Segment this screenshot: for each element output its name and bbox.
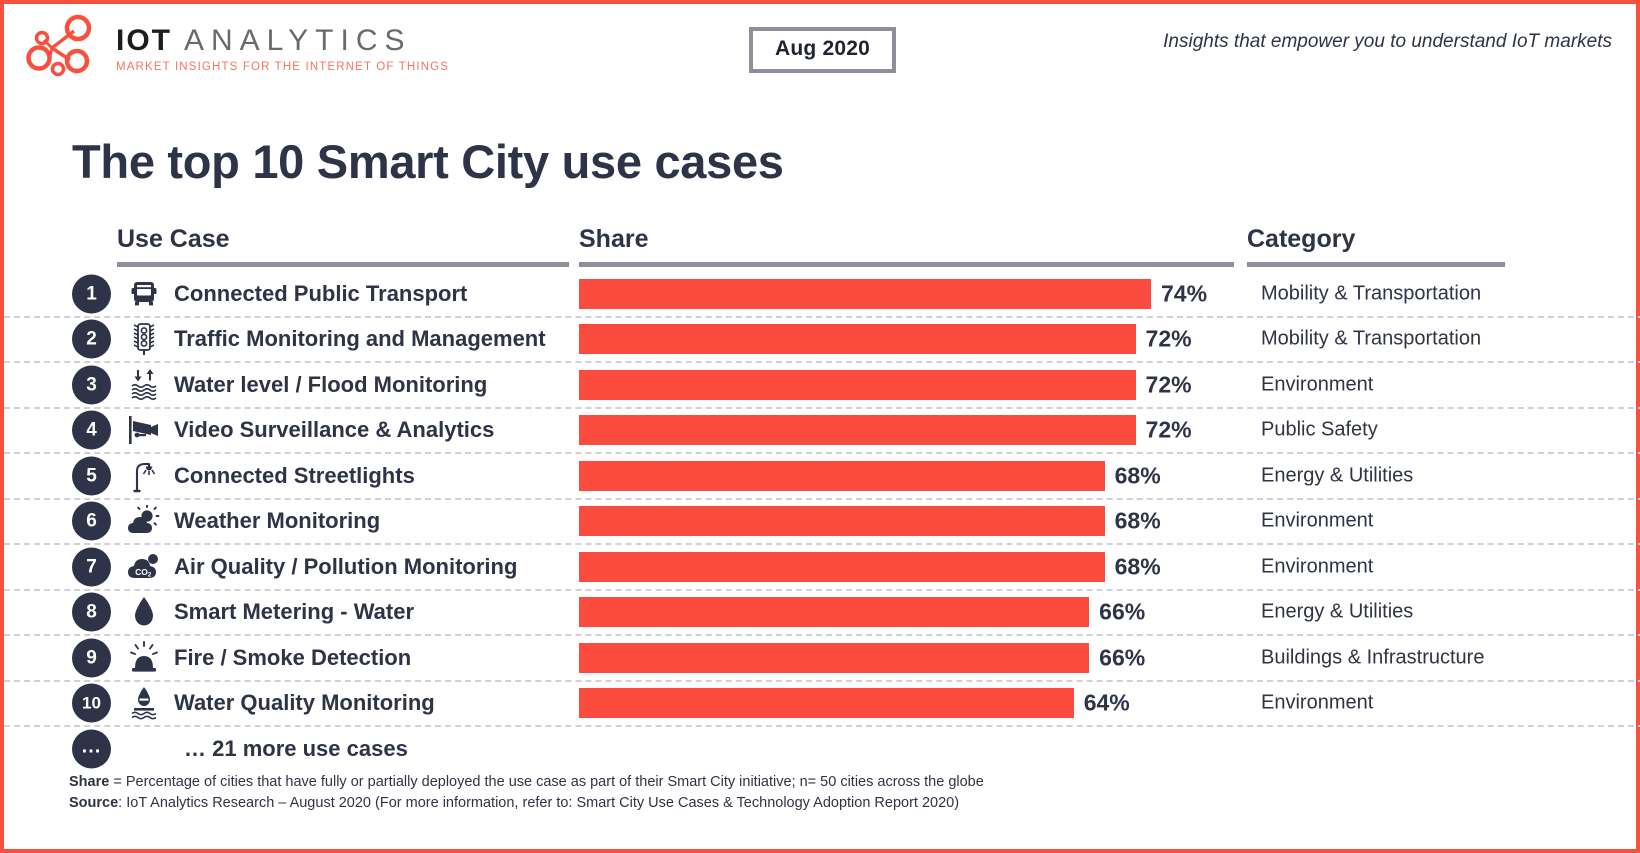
category-label: Environment xyxy=(1261,510,1373,533)
rank-badge: 5 xyxy=(72,456,111,495)
share-value-label: 72% xyxy=(1146,371,1192,398)
more-badge: ... xyxy=(72,730,111,769)
use-case-table: Use Case Share Category 1 Connected Publ… xyxy=(4,220,1640,771)
rank-badge: 1 xyxy=(72,274,111,313)
table-row: 10 Water Quality Monitoring64%Environmen… xyxy=(4,682,1640,728)
infographic-page: IOT ANALYTICS MARKET INSIGHTS FOR THE IN… xyxy=(0,0,1640,853)
share-bar xyxy=(579,552,1105,582)
logo-wordmark: IOT ANALYTICS xyxy=(116,26,449,56)
table-row: 9 Fire / Smoke Detection66%Buildings & I… xyxy=(4,636,1640,682)
header-rule-category xyxy=(1247,262,1505,267)
company-tagline: Insights that empower you to understand … xyxy=(1163,31,1612,53)
footnotes: Share = Percentage of cities that have f… xyxy=(69,772,984,814)
logo-secondary: ANALYTICS xyxy=(184,26,412,56)
table-row: 4 Video Surveillance & Analytics72%Publi… xyxy=(4,409,1640,455)
table-row: 2 Traffic Monitoring and Management72%Mo… xyxy=(4,318,1640,364)
use-case-label: Smart Metering - Water xyxy=(174,599,414,625)
use-case-label: Video Surveillance & Analytics xyxy=(174,417,494,443)
share-value-label: 68% xyxy=(1115,508,1161,535)
category-label: Environment xyxy=(1261,373,1373,396)
svg-text:CO: CO xyxy=(135,567,148,577)
category-label: Environment xyxy=(1261,692,1373,715)
share-bar xyxy=(579,370,1136,400)
category-label: Public Safety xyxy=(1261,419,1378,442)
more-use-cases-label: … 21 more use cases xyxy=(184,736,408,762)
category-label: Mobility & Transportation xyxy=(1261,282,1481,305)
share-bar xyxy=(579,688,1074,718)
header-rule-use-case xyxy=(117,262,569,267)
column-header-use-case: Use Case xyxy=(117,225,230,254)
rank-badge: 6 xyxy=(72,502,111,541)
column-header-share: Share xyxy=(579,225,648,254)
table-row: 3 Water level / Flood Monitoring72%Envir… xyxy=(4,363,1640,409)
share-bar xyxy=(579,415,1136,445)
iot-network-logo-icon xyxy=(22,14,102,80)
use-case-label: Water Quality Monitoring xyxy=(174,690,435,716)
page-title: The top 10 Smart City use cases xyxy=(72,134,784,189)
footnote-source-prefix: Source xyxy=(69,795,118,811)
share-value-label: 72% xyxy=(1146,326,1192,353)
share-value-label: 66% xyxy=(1099,599,1145,626)
use-case-label: Connected Public Transport xyxy=(174,281,467,307)
category-label: Energy & Utilities xyxy=(1261,601,1413,624)
footnote-share-prefix: Share xyxy=(69,774,109,790)
rank-badge: 3 xyxy=(72,365,111,404)
table-row: 5 Connected Streetlights68%Energy & Util… xyxy=(4,454,1640,500)
share-value-label: 74% xyxy=(1161,280,1207,307)
use-case-label: Weather Monitoring xyxy=(174,508,380,534)
footnote-share-text: = Percentage of cities that have fully o… xyxy=(109,774,984,790)
share-value-label: 64% xyxy=(1084,690,1130,717)
use-case-label: Traffic Monitoring and Management xyxy=(174,326,546,352)
alarm-siren-icon xyxy=(124,640,164,676)
share-value-label: 68% xyxy=(1115,553,1161,580)
bus-icon xyxy=(124,276,164,312)
header-rule-share xyxy=(579,262,1234,267)
category-label: Environment xyxy=(1261,555,1373,578)
share-value-label: 66% xyxy=(1099,644,1145,671)
rank-badge: 8 xyxy=(72,593,111,632)
share-bar xyxy=(579,597,1089,627)
logo-tagline: MARKET INSIGHTS FOR THE INTERNET OF THIN… xyxy=(116,61,449,73)
rank-badge: 9 xyxy=(72,638,111,677)
share-bar xyxy=(579,506,1105,536)
footnote-source-text: : IoT Analytics Research – August 2020 (… xyxy=(118,795,959,811)
share-value-label: 72% xyxy=(1146,417,1192,444)
water-level-icon xyxy=(124,367,164,403)
category-label: Mobility & Transportation xyxy=(1261,328,1481,351)
table-body: 1 Connected Public Transport74%Mobility … xyxy=(4,272,1640,771)
column-header-row: Use Case Share Category xyxy=(4,220,1640,268)
logo-primary: IOT xyxy=(116,26,172,56)
more-use-cases-row: ...… 21 more use cases xyxy=(4,727,1640,771)
category-label: Energy & Utilities xyxy=(1261,464,1413,487)
share-bar xyxy=(579,279,1151,309)
footnote-share: Share = Percentage of cities that have f… xyxy=(69,772,984,793)
footnote-source: Source: IoT Analytics Research – August … xyxy=(69,793,984,814)
streetlight-icon xyxy=(124,458,164,494)
share-bar xyxy=(579,643,1089,673)
table-row: 8 Smart Metering - Water66%Energy & Util… xyxy=(4,591,1640,637)
share-bar xyxy=(579,461,1105,491)
share-bar xyxy=(579,324,1136,354)
iot-analytics-logo: IOT ANALYTICS MARKET INSIGHTS FOR THE IN… xyxy=(22,14,449,80)
water-drop-icon xyxy=(124,594,164,630)
share-value-label: 68% xyxy=(1115,462,1161,489)
date-badge: Aug 2020 xyxy=(749,27,896,73)
table-row: 1 Connected Public Transport74%Mobility … xyxy=(4,272,1640,318)
rank-badge: 4 xyxy=(72,411,111,450)
table-row: 6 Weather Monitoring68%Environment xyxy=(4,500,1640,546)
rank-badge: 2 xyxy=(72,320,111,359)
cctv-camera-icon xyxy=(124,412,164,448)
rank-badge: 10 xyxy=(72,684,111,723)
table-row: 7 CO 2 Air Quality / Pollution Monitorin… xyxy=(4,545,1640,591)
use-case-label: Water level / Flood Monitoring xyxy=(174,372,487,398)
use-case-label: Connected Streetlights xyxy=(174,463,415,489)
rank-badge: 7 xyxy=(72,547,111,586)
traffic-light-icon xyxy=(124,321,164,357)
use-case-label: Air Quality / Pollution Monitoring xyxy=(174,554,517,580)
weather-sun-cloud-icon xyxy=(124,503,164,539)
co2-cloud-icon: CO 2 xyxy=(124,549,164,585)
category-label: Buildings & Infrastructure xyxy=(1261,646,1484,669)
column-header-category: Category xyxy=(1247,225,1355,254)
use-case-label: Fire / Smoke Detection xyxy=(174,645,411,671)
header: IOT ANALYTICS MARKET INSIGHTS FOR THE IN… xyxy=(4,4,1636,96)
water-quality-icon xyxy=(124,685,164,721)
